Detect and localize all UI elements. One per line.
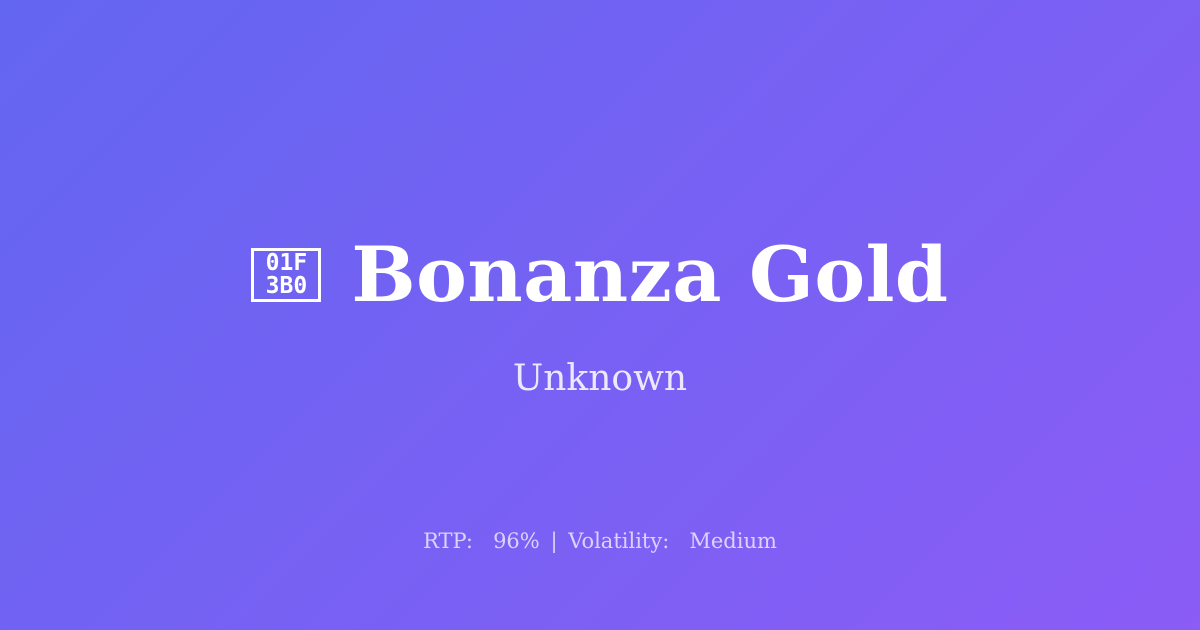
rtp-label: RTP: [423, 529, 473, 553]
game-provider-subtitle: Unknown [513, 358, 687, 400]
page-title: Bonanza Gold [351, 232, 948, 318]
slot-machine-icon: 01F 3B0 [251, 248, 321, 302]
volatility-label: Volatility: [568, 529, 669, 553]
slot-machine-icon-codepoint-top: 01F [266, 252, 308, 275]
game-preview-card: 01F 3B0 Bonanza Gold Unknown RTP: 96% | … [0, 0, 1200, 630]
slot-machine-icon-codepoint-bottom: 3B0 [266, 275, 308, 298]
volatility-value: Medium [689, 529, 777, 553]
game-stats-line: RTP: 96% | Volatility: Medium [0, 528, 1200, 554]
stats-separator: | [546, 529, 561, 553]
rtp-value: 96% [493, 529, 540, 553]
title-row: 01F 3B0 Bonanza Gold [251, 232, 948, 318]
hero-block: 01F 3B0 Bonanza Gold Unknown [0, 232, 1200, 400]
